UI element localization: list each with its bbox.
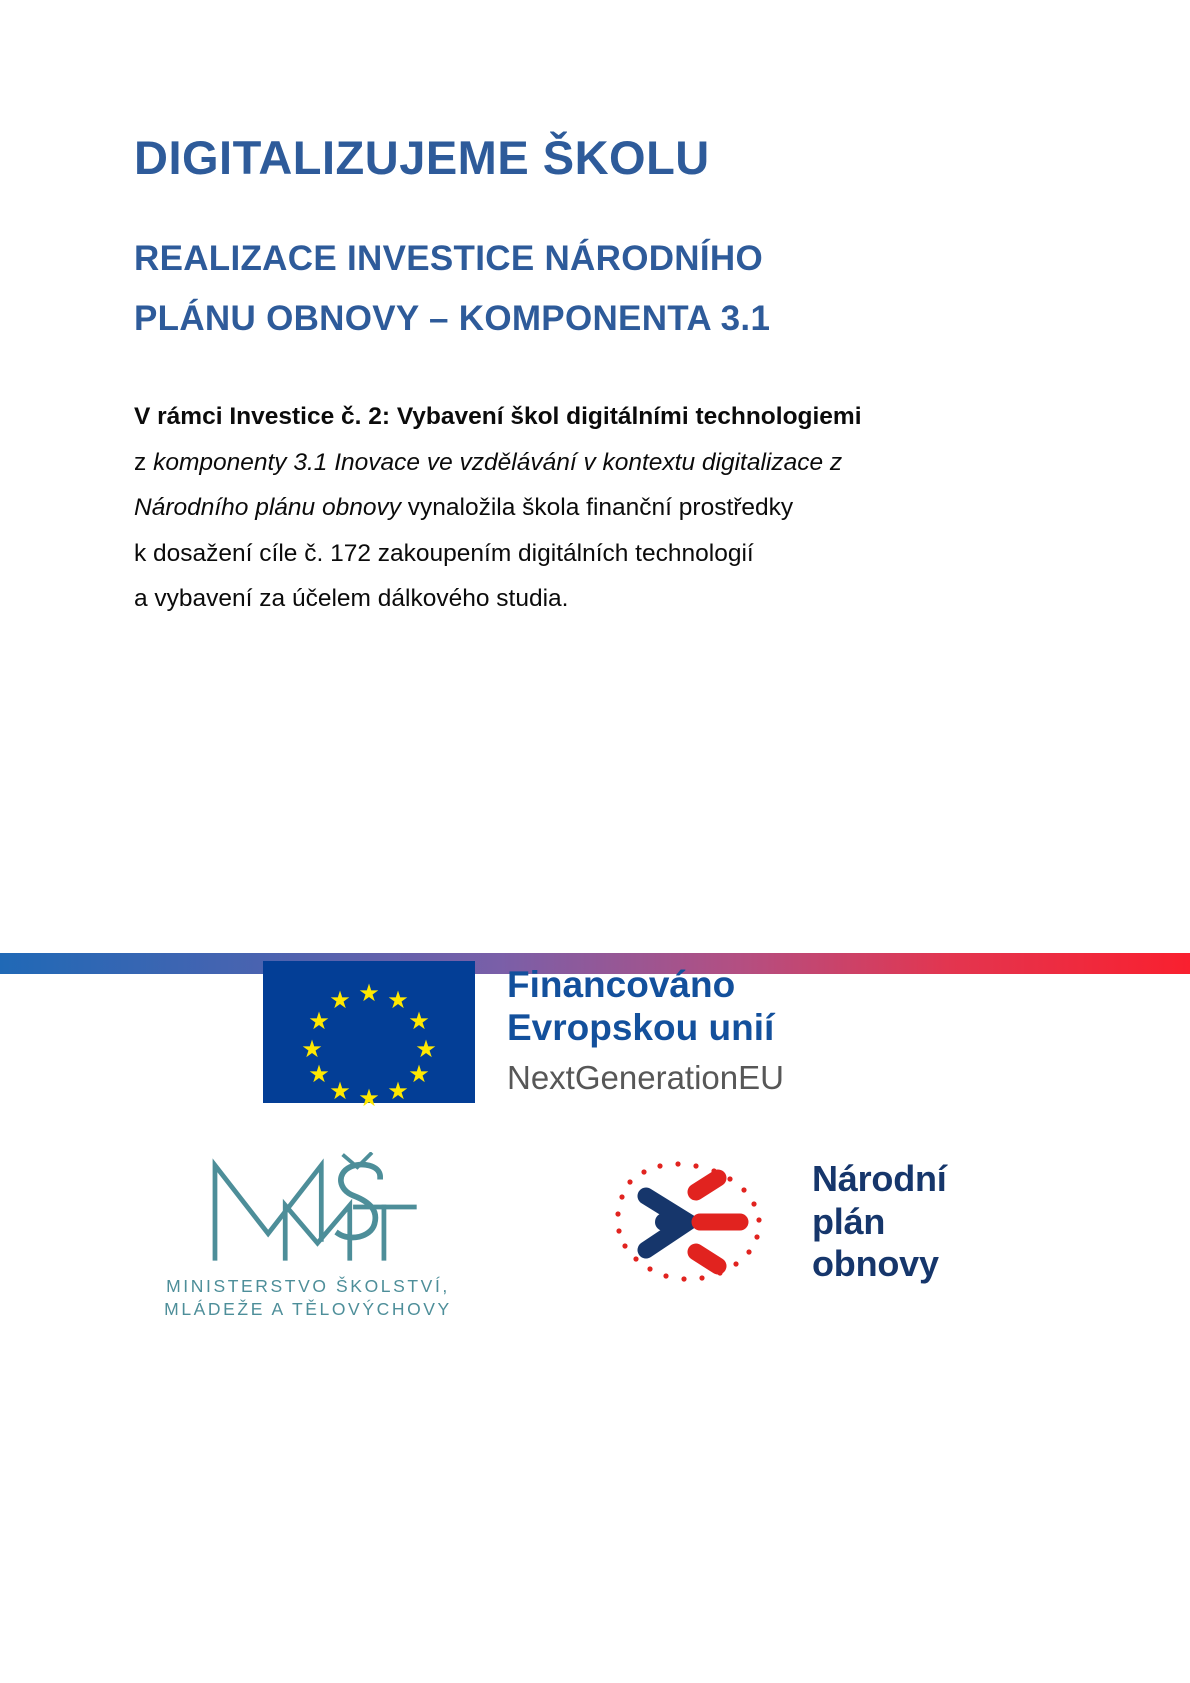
- body-line-2-prefix: z: [134, 449, 153, 476]
- eu-star-icon: ★: [301, 1039, 323, 1061]
- eu-star-icon: ★: [308, 1011, 330, 1033]
- body-line-4: k dosažení cíle č. 172 zakoupením digitá…: [134, 531, 1034, 577]
- narodni-plan-obnovy-mark-icon: [600, 1152, 790, 1292]
- body-line-2-italic: komponenty 3.1 Inovace ve vzdělávání v k…: [153, 449, 842, 476]
- eu-financovano-label: Financováno: [507, 963, 784, 1006]
- body-line-3-italic: Národního plánu obnovy: [134, 494, 401, 521]
- eu-star-icon: ★: [329, 990, 351, 1012]
- body-line-1-bold: V rámci Investice č. 2: Vybavení škol di…: [134, 403, 862, 430]
- eu-funding-logo: ★ ★ ★ ★ ★ ★ ★ ★ ★ ★ ★ ★ Financováno Evro…: [263, 961, 784, 1103]
- poster-page: DIGITALIZUJEME ŠKOLU REALIZACE INVESTICE…: [0, 0, 1190, 1683]
- heading-block: DIGITALIZUJEME ŠKOLU REALIZACE INVESTICE…: [134, 132, 1054, 349]
- msmt-monogram-icon: [188, 1152, 428, 1264]
- eu-star-icon: ★: [408, 1064, 430, 1086]
- body-paragraph: V rámci Investice č. 2: Vybavení škol di…: [134, 394, 1034, 622]
- eu-nextgenerationeu-label: NextGenerationEU: [507, 1057, 784, 1100]
- eu-star-icon: ★: [408, 1011, 430, 1033]
- eu-flag-icon: ★ ★ ★ ★ ★ ★ ★ ★ ★ ★ ★ ★: [263, 961, 475, 1103]
- npo-logo: Národní plán obnovy: [600, 1152, 947, 1292]
- eu-star-icon: ★: [358, 983, 380, 1005]
- body-line-5: a vybavení za účelem dálkového studia.: [134, 576, 1034, 622]
- eu-star-icon: ★: [329, 1081, 351, 1103]
- npo-line-3: obnovy: [812, 1243, 947, 1285]
- body-line-3-rest: vynaložila škola finanční prostředky: [401, 494, 793, 521]
- eu-evropskou-unii-label: Evropskou unií: [507, 1006, 784, 1049]
- npo-line-2: plán: [812, 1201, 947, 1243]
- eu-star-icon: ★: [387, 1081, 409, 1103]
- page-subtitle-line-1: REALIZACE INVESTICE NÁRODNÍHO: [134, 229, 1054, 289]
- page-title: DIGITALIZUJEME ŠKOLU: [134, 132, 1054, 185]
- body-line-1: V rámci Investice č. 2: Vybavení škol di…: [134, 394, 1034, 440]
- eu-star-icon: ★: [387, 990, 409, 1012]
- eu-star-icon: ★: [358, 1088, 380, 1110]
- msmt-caption-line-1: MINISTERSTVO ŠKOLSTVÍ,: [138, 1275, 478, 1298]
- eu-star-icon: ★: [308, 1064, 330, 1086]
- npo-line-1: Národní: [812, 1158, 947, 1200]
- eu-star-icon: ★: [415, 1039, 437, 1061]
- msmt-caption-line-2: MLÁDEŽE A TĚLOVÝCHOVY: [138, 1298, 478, 1321]
- msmt-caption: MINISTERSTVO ŠKOLSTVÍ, MLÁDEŽE A TĚLOVÝC…: [138, 1275, 478, 1321]
- npo-logo-text: Národní plán obnovy: [812, 1158, 947, 1285]
- body-line-2: z komponenty 3.1 Inovace ve vzdělávání v…: [134, 440, 1034, 486]
- page-subtitle-line-2: PLÁNU OBNOVY – KOMPONENTA 3.1: [134, 289, 1054, 349]
- msmt-logo: MINISTERSTVO ŠKOLSTVÍ, MLÁDEŽE A TĚLOVÝC…: [138, 1152, 478, 1321]
- body-line-3: Národního plánu obnovy vynaložila škola …: [134, 485, 1034, 531]
- eu-logo-text-block: Financováno Evropskou unií NextGeneratio…: [507, 961, 784, 1099]
